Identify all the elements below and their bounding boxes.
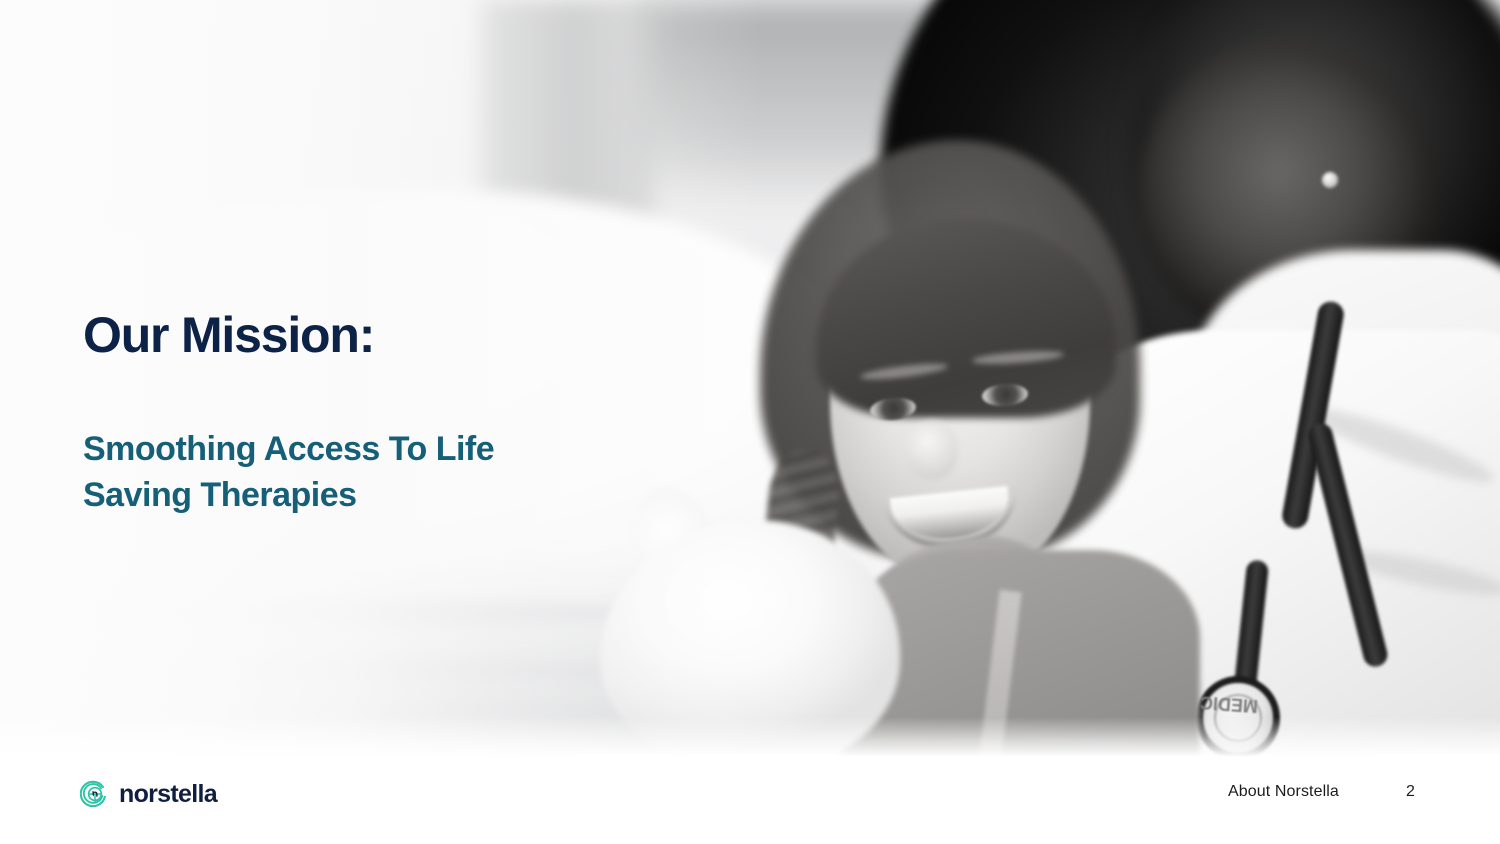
footer-meta: About Norstella 2 [0,783,1500,807]
page-title: Our Mission: [83,306,703,364]
footer-section-label: About Norstella [1228,783,1339,801]
child-nose [906,420,958,480]
clinician-earring [1322,172,1338,188]
slide: MEDIC Our Mission: Smoothing Access [0,0,1500,844]
page-subtitle: Smoothing Access To Life Saving Therapie… [83,364,703,518]
slide-footer: norstella About Norstella 2 [0,757,1500,844]
page-number: 2 [1406,783,1415,801]
photo-bottom-fade [0,717,1500,757]
headline-block: Our Mission: Smoothing Access To Life Sa… [83,306,703,518]
